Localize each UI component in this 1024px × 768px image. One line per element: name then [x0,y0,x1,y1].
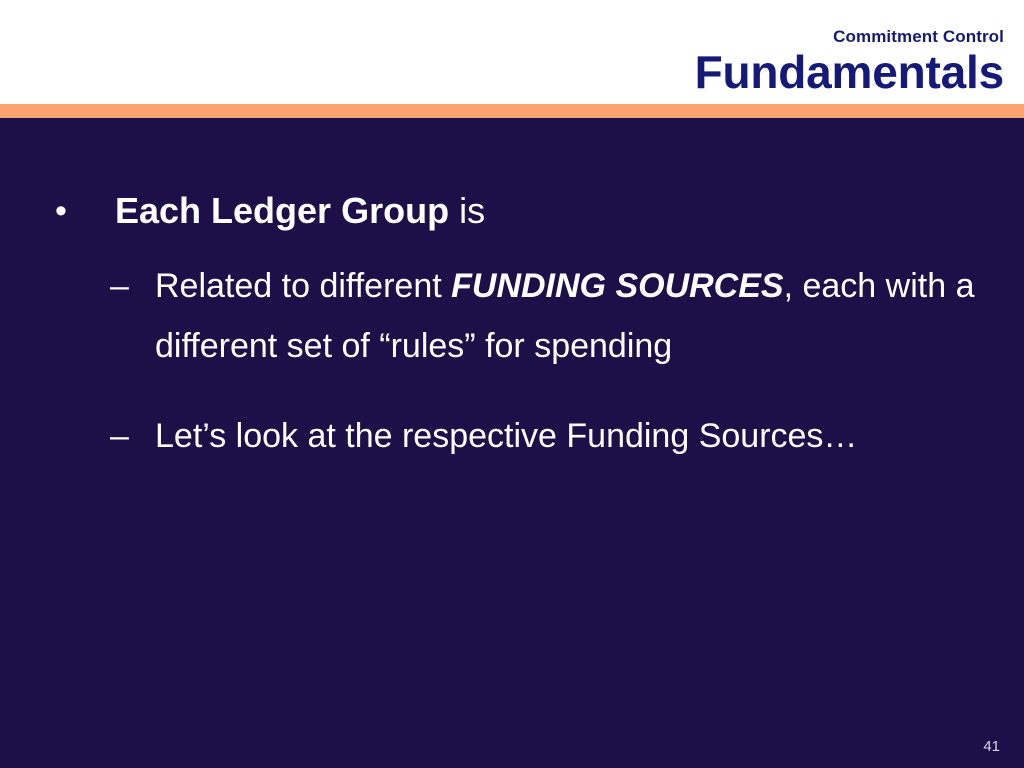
accent-divider-bar [0,104,1024,118]
bullet-level1: • Each Ledger Group is [55,186,955,236]
page-title: Fundamentals [695,48,1004,96]
slide-header: Commitment Control Fundamentals [0,0,1024,104]
sub-bullet-list: – Related to different FUNDING SOURCES, … [110,256,1020,496]
sub-bullet-part-plain: Let’s look at the respective Funding Sou… [155,417,857,455]
bullet-dot-icon: • [55,186,115,236]
sub-bullet-text: Let’s look at the respective Funding Sou… [155,406,1020,466]
slide: Commitment Control Fundamentals • Each L… [0,0,1024,768]
bullet-level1-plain: is [449,190,485,231]
header-eyebrow: Commitment Control [833,28,1004,45]
slide-number: 41 [983,739,1000,754]
list-item: – Related to different FUNDING SOURCES, … [110,256,1020,376]
bullet-level1-text: Each Ledger Group is [115,186,955,236]
sub-bullet-text: Related to different FUNDING SOURCES, ea… [155,256,1020,376]
sub-bullet-part-emphasis: FUNDING SOURCES [451,267,783,305]
bullet-dash-icon: – [110,256,155,316]
sub-bullet-part-plain-lead: Related to different [155,267,451,305]
list-item: – Let’s look at the respective Funding S… [110,406,1020,466]
bullet-dash-icon: – [110,406,155,466]
slide-body: • Each Ledger Group is – Related to diff… [0,118,1024,768]
bullet-level1-strong: Each Ledger Group [115,190,449,231]
